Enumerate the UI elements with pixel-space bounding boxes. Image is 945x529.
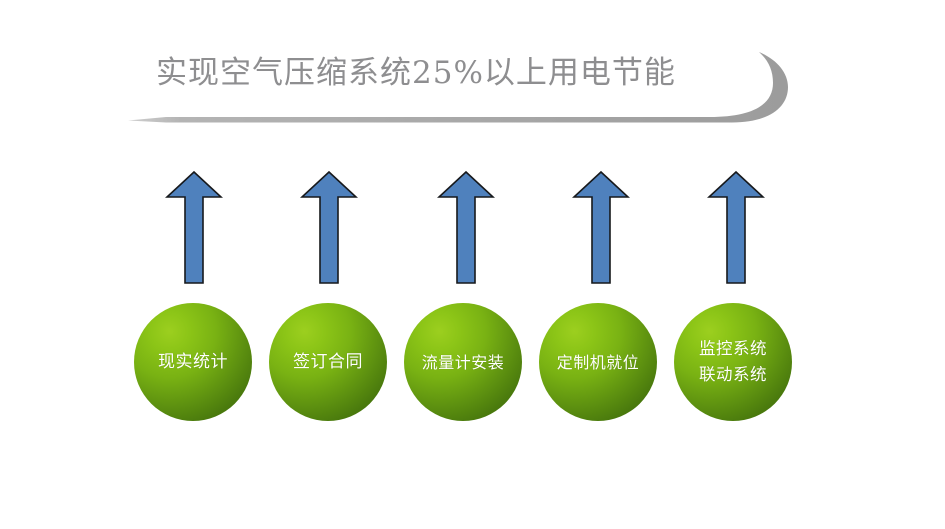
arrow-up-shape — [302, 172, 356, 283]
step-circle-2[interactable]: 签订合同 — [269, 303, 387, 421]
title-banner: 实现空气压缩系统25%以上用电节能 — [110, 34, 810, 144]
arrow-up-shape — [709, 172, 763, 283]
arrow-up-icon-4 — [572, 170, 630, 286]
arrow-up-shape — [167, 172, 221, 283]
slide-canvas: 实现空气压缩系统25%以上用电节能 现实统计 签订合同 流量计安装 定制机就位 … — [0, 0, 945, 529]
step-circle-1[interactable]: 现实统计 — [134, 303, 252, 421]
arrow-up-icon-5 — [707, 170, 765, 286]
step-label-2: 签订合同 — [293, 351, 363, 374]
step-label-5: 监控系统 联动系统 — [699, 336, 767, 388]
arrow-up-icon-3 — [437, 170, 495, 286]
step-label-4: 定制机就位 — [557, 351, 640, 374]
step-label-1: 现实统计 — [158, 351, 228, 374]
step-label-3: 流量计安装 — [422, 351, 505, 374]
step-label-5-line-2: 联动系统 — [699, 365, 767, 384]
step-circle-5[interactable]: 监控系统 联动系统 — [674, 303, 792, 421]
arrow-up-shape — [439, 172, 493, 283]
arrow-up-icon-2 — [300, 170, 358, 286]
page-title: 实现空气压缩系统25%以上用电节能 — [156, 50, 776, 96]
arrow-up-icon-1 — [165, 170, 223, 286]
step-circle-3[interactable]: 流量计安装 — [404, 303, 522, 421]
step-circle-4[interactable]: 定制机就位 — [539, 303, 657, 421]
step-label-5-line-1: 监控系统 — [699, 339, 767, 358]
arrow-up-shape — [574, 172, 628, 283]
